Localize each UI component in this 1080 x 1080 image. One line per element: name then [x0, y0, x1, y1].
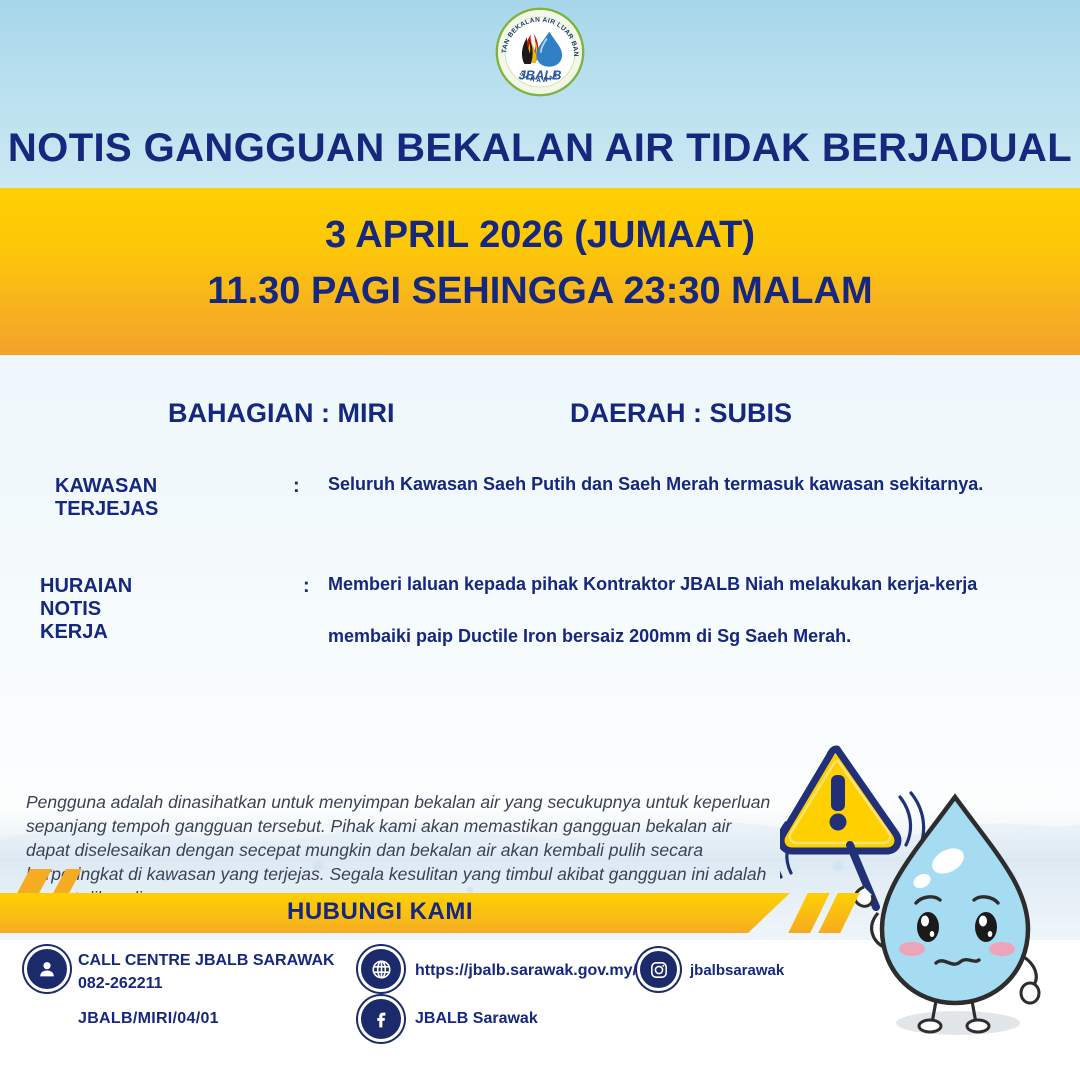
instagram-handle[interactable]: jbalbsarawak [690, 962, 784, 979]
page-title: NOTIS GANGGUAN BEKALAN AIR TIDAK BERJADU… [0, 126, 1080, 171]
svg-text:JBALB: JBALB [519, 68, 562, 83]
facebook-icon[interactable] [358, 996, 404, 1042]
work-description-colon: : [303, 575, 310, 598]
person-icon[interactable] [24, 946, 70, 992]
reference-number: JBALB/MIRI/04/01 [78, 1010, 219, 1028]
facebook-page-name[interactable]: JBALB Sarawak [415, 1010, 538, 1028]
call-centre-phone[interactable]: 082-262211 [78, 975, 163, 993]
work-description-value-line1: Memberi laluan kepada pihak Kontraktor J… [328, 561, 1028, 607]
call-centre-name: CALL CENTRE JBALB SARAWAK [78, 952, 335, 970]
work-description-label: HURAIAN NOTIS KERJA [40, 575, 132, 644]
contact-banner-title: HUBUNGI KAMI [0, 898, 760, 926]
advisory-paragraph: Pengguna adalah dinasihatkan untuk menyi… [26, 790, 774, 910]
district-label: DAERAH : SUBIS [570, 398, 792, 429]
work-description-value-line2: membaiki paip Ductile Iron bersaiz 200mm… [328, 613, 1028, 659]
affected-area-value: Seluruh Kawasan Saeh Putih dan Saeh Mera… [328, 461, 1028, 507]
water-disruption-notice-poster: JABATAN BEKALAN AIR LUAR BANDAR SARAWAK … [0, 0, 1080, 1080]
jbalb-sarawak-logo: JABATAN BEKALAN AIR LUAR BANDAR SARAWAK … [494, 6, 586, 98]
affected-area-label: KAWASAN TERJEJAS [55, 475, 158, 521]
division-label: BAHAGIAN : MIRI [168, 398, 394, 429]
globe-icon[interactable] [358, 946, 404, 992]
affected-area-colon: : [293, 475, 300, 498]
date-band: 3 APRIL 2026 (JUMAAT) 11.30 PAGI SEHINGG… [0, 188, 1080, 355]
disruption-date: 3 APRIL 2026 (JUMAAT) [0, 214, 1080, 257]
disruption-time: 11.30 PAGI SEHINGGA 23:30 MALAM [0, 270, 1080, 313]
website-url[interactable]: https://jbalb.sarawak.gov.my/ [415, 962, 637, 980]
instagram-icon[interactable] [637, 948, 680, 991]
location-row: BAHAGIAN : MIRI DAERAH : SUBIS [0, 398, 1080, 444]
